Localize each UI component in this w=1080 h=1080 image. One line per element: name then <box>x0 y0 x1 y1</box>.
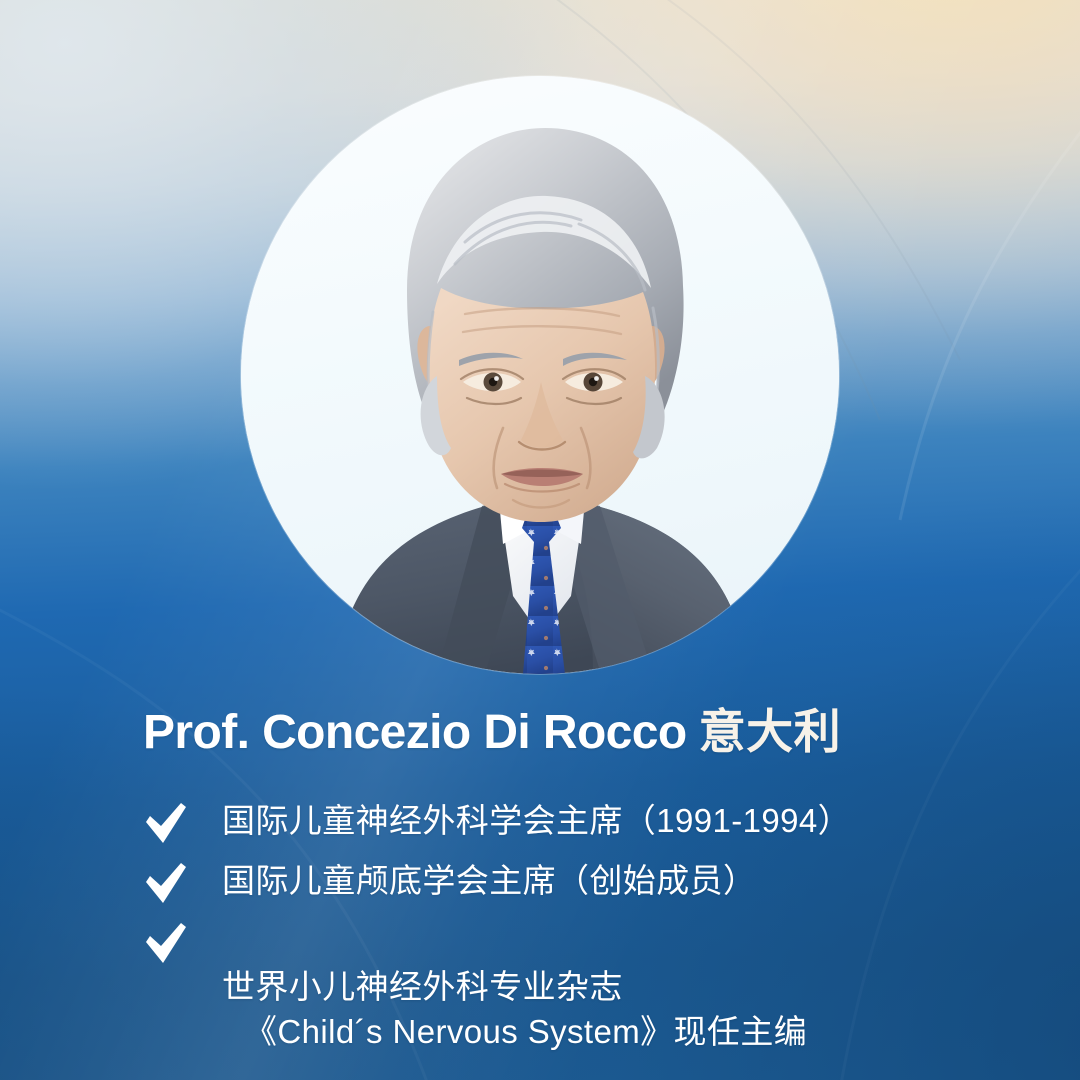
portrait-illustration <box>241 76 839 674</box>
check-icon <box>144 922 188 964</box>
list-item-label: 国际儿童颅底学会主席（创始成员） <box>222 858 756 904</box>
list-item: 世界小儿神经外科专业杂志 《Child´s Nervous System》现任主… <box>144 918 1024 1080</box>
speaker-profile-poster: Prof. Concezio Di Rocco意大利 国际儿童神经外科学会主席（… <box>0 0 1080 1080</box>
list-item: 国际儿童颅底学会主席（创始成员） <box>144 858 1024 904</box>
avatar <box>241 76 839 674</box>
check-icon <box>144 862 188 904</box>
list-item-label-secondary: 《Child´s Nervous System》现任主编 <box>222 1009 807 1055</box>
check-icon <box>144 802 188 844</box>
title-country: 意大利 <box>699 705 842 758</box>
page-title: Prof. Concezio Di Rocco意大利 <box>143 706 841 760</box>
credentials-list: 国际儿童神经外科学会主席（1991-1994） 国际儿童颅底学会主席（创始成员）… <box>144 798 1024 1080</box>
title-latin: Prof. Concezio Di Rocco <box>143 706 687 759</box>
list-item-label: 国际儿童神经外科学会主席（1991-1994） <box>222 798 851 844</box>
list-item-label: 世界小儿神经外科专业杂志 <box>222 968 623 1005</box>
list-item: 国际儿童神经外科学会主席（1991-1994） <box>144 798 1024 844</box>
